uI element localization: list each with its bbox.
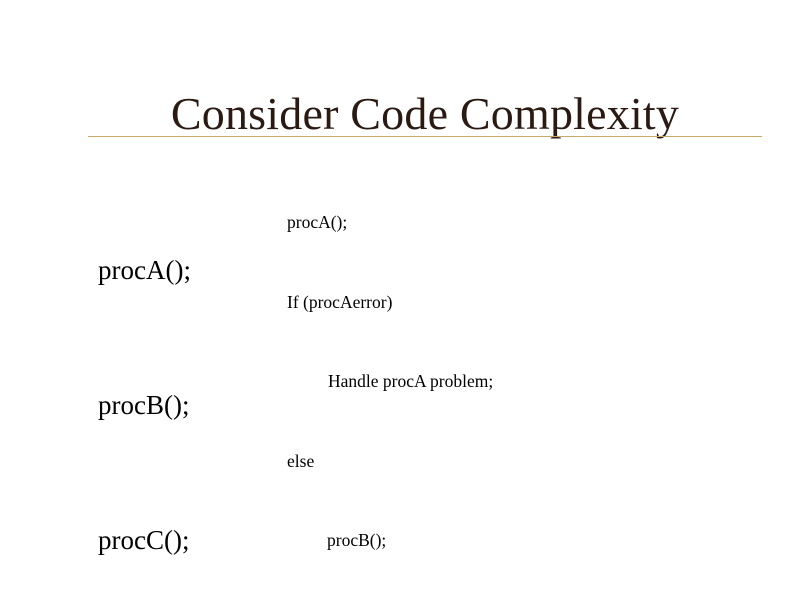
simple-code-block: procA(); procB(); procC();: [98, 158, 191, 600]
code-line: procA();: [98, 248, 191, 293]
page-title: Consider Code Complexity: [88, 85, 762, 143]
code-line: procC();: [98, 518, 191, 563]
code-line: If (procAerror): [287, 289, 613, 316]
code-line: procB();: [327, 527, 613, 554]
code-line: else: [287, 448, 613, 475]
code-line: Handle procA problem;: [328, 368, 613, 395]
code-line: procA();: [287, 209, 613, 236]
slide-canvas: Consider Code Complexity procA(); procB(…: [0, 0, 800, 600]
title-divider-rule: [88, 136, 762, 137]
nested-code-block: procA(); If (procAerror) Handle procA pr…: [287, 156, 613, 600]
code-line: procB();: [98, 383, 191, 428]
